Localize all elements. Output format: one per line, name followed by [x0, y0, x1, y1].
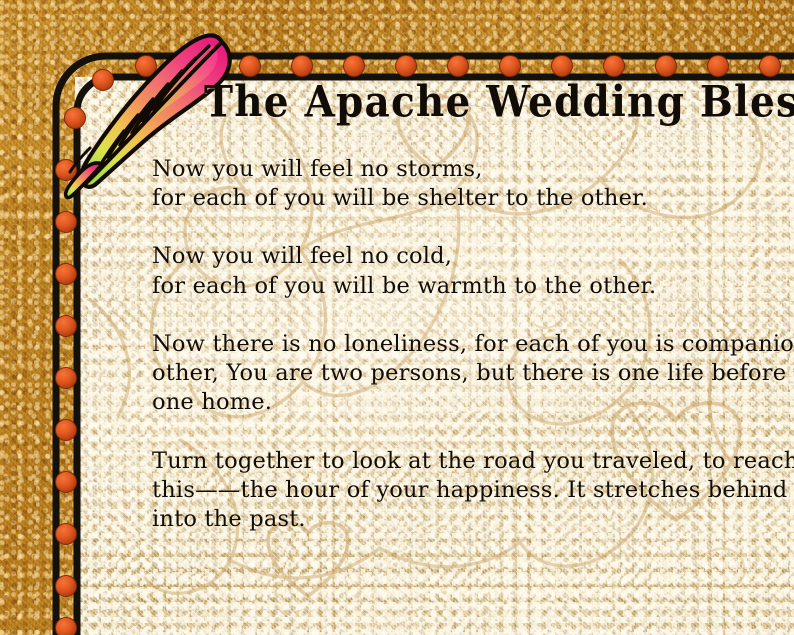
- poem-line: for each of you will be shelter to the o…: [152, 184, 794, 213]
- poem-line: one home.: [152, 388, 794, 417]
- poem-line: other, You are two persons, but there is…: [152, 359, 794, 388]
- poem-content: The Apache Wedding Blessing Now you will…: [152, 80, 794, 534]
- stanza-road: Turn together to look at the road you tr…: [152, 447, 794, 535]
- poem-line: Now you will feel no cold,: [152, 242, 794, 271]
- poem-line: Turn together to look at the road you tr…: [152, 447, 794, 476]
- stanza-loneliness: Now there is no loneliness, for each of …: [152, 330, 794, 418]
- poem-line: Now there is no loneliness, for each of …: [152, 330, 794, 359]
- poem-line: this——the hour of your happiness. It str…: [152, 476, 794, 505]
- poem-line: into the past.: [152, 505, 794, 534]
- poem-line: for each of you will be warmth to the ot…: [152, 272, 794, 301]
- poem-line: Now you will feel no storms,: [152, 155, 794, 184]
- stanza-cold: Now you will feel no cold, for each of y…: [152, 242, 794, 301]
- stanza-storms: Now you will feel no storms, for each of…: [152, 155, 794, 214]
- page-title: The Apache Wedding Blessing: [204, 80, 794, 125]
- blessing-poster: The Apache Wedding Blessing Now you will…: [0, 0, 794, 635]
